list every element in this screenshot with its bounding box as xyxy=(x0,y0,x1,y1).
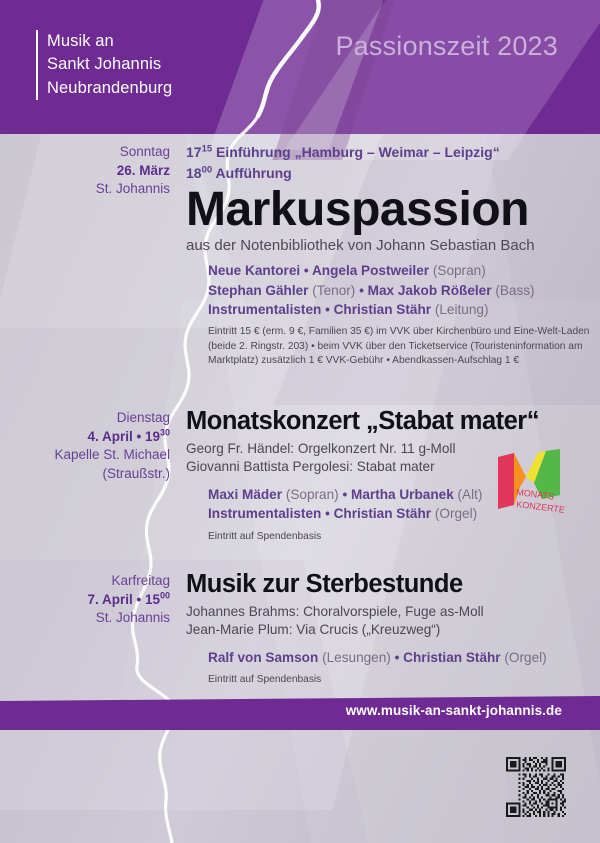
event-3-fineprint: Eintritt auf Spendenbasis xyxy=(186,673,590,687)
event-3-date-text: 7. April • 15 xyxy=(87,592,160,607)
event-1-body: 1715 Einführung „Hamburg – Weimar – Leip… xyxy=(186,143,590,369)
event-1-performance-text: Aufführung xyxy=(216,165,292,181)
event-1-performers: Neue Kantorei • Angela Postweiler (Sopra… xyxy=(186,261,590,319)
event-1-performance-time-minutes: 00 xyxy=(202,164,213,175)
qr-code[interactable] xyxy=(506,757,566,817)
event-2-date-column: Dienstag 4. April • 1930 Kapelle St. Mic… xyxy=(0,409,170,484)
text-line: Instrumentalisten • Christian Stähr (Lei… xyxy=(208,300,590,319)
event-1-weekday: Sonntag xyxy=(0,143,170,162)
event-1-fineprint: Eintritt 15 € (erm. 9 €, Familien 35 €) … xyxy=(186,325,590,368)
text-line: Jean-Marie Plum: Via Crucis („Kreuzweg“) xyxy=(186,621,590,640)
event-1-performance-time: 18 xyxy=(186,165,202,181)
event-1-venue: St. Johannis xyxy=(0,180,170,199)
monatskonzerte-logo-line2: KONZERTE xyxy=(516,499,566,515)
event-1-subtitle: aus der Notenbibliothek von Johann Sebas… xyxy=(186,236,590,256)
text-line: Stephan Gähler (Tenor) • Max Jakob Rößel… xyxy=(208,281,590,300)
event-3-date-column: Karfreitag 7. April • 1500 St. Johannis xyxy=(0,572,170,628)
event-3-date: 7. April • 1500 xyxy=(0,591,170,610)
event-2-title: Monatskonzert „Stabat mater“ xyxy=(186,409,590,435)
event-2-fineprint: Eintritt auf Spendenbasis xyxy=(186,530,590,544)
event-1-intro-time: 17 xyxy=(186,144,202,160)
event-3-venue: St. Johannis xyxy=(0,609,170,628)
text-line: Johannes Brahms: Choralvorspiele, Fuge a… xyxy=(186,603,590,622)
event-1-title: Markuspassion xyxy=(186,186,590,234)
event-1-intro-line: 1715 Einführung „Hamburg – Weimar – Leip… xyxy=(186,143,590,163)
event-1-intro-time-minutes: 15 xyxy=(202,143,213,154)
event-2-date-minutes: 30 xyxy=(160,427,170,437)
event-3-weekday: Karfreitag xyxy=(0,572,170,591)
text-line: Neue Kantorei • Angela Postweiler (Sopra… xyxy=(208,261,590,280)
event-2-weekday: Dienstag xyxy=(0,409,170,428)
event-3-program: Johannes Brahms: Choralvorspiele, Fuge a… xyxy=(186,603,590,641)
event-3-performers: Ralf von Samson (Lesungen) • Christian S… xyxy=(186,648,590,667)
concert-poster: Musik an Sankt Johannis Neubrandenburg P… xyxy=(0,0,600,843)
website-url[interactable]: www.musik-an-sankt-johannis.de xyxy=(346,703,562,718)
event-1-intro-text: Einführung „Hamburg – Weimar – Leipzig“ xyxy=(216,144,500,160)
text-line: Ralf von Samson (Lesungen) • Christian S… xyxy=(208,648,590,667)
event-3-date-minutes: 00 xyxy=(160,590,170,600)
event-1-date-column: Sonntag 26. März St. Johannis xyxy=(0,143,170,199)
event-2-venue-street: (Straußstr.) xyxy=(0,465,170,484)
event-1-date: 26. März xyxy=(0,162,170,181)
event-2-date: 4. April • 1930 xyxy=(0,428,170,447)
event-2-venue: Kapelle St. Michael xyxy=(0,446,170,465)
event-3-body: Musik zur Sterbestunde Johannes Brahms: … xyxy=(186,572,590,688)
event-3-title: Musik zur Sterbestunde xyxy=(186,572,590,598)
event-1-performance-line: 1800 Aufführung xyxy=(186,164,590,184)
event-2-date-text: 4. April • 19 xyxy=(87,429,160,444)
monatskonzerte-logo: MONATS KONZERTE xyxy=(494,443,574,518)
